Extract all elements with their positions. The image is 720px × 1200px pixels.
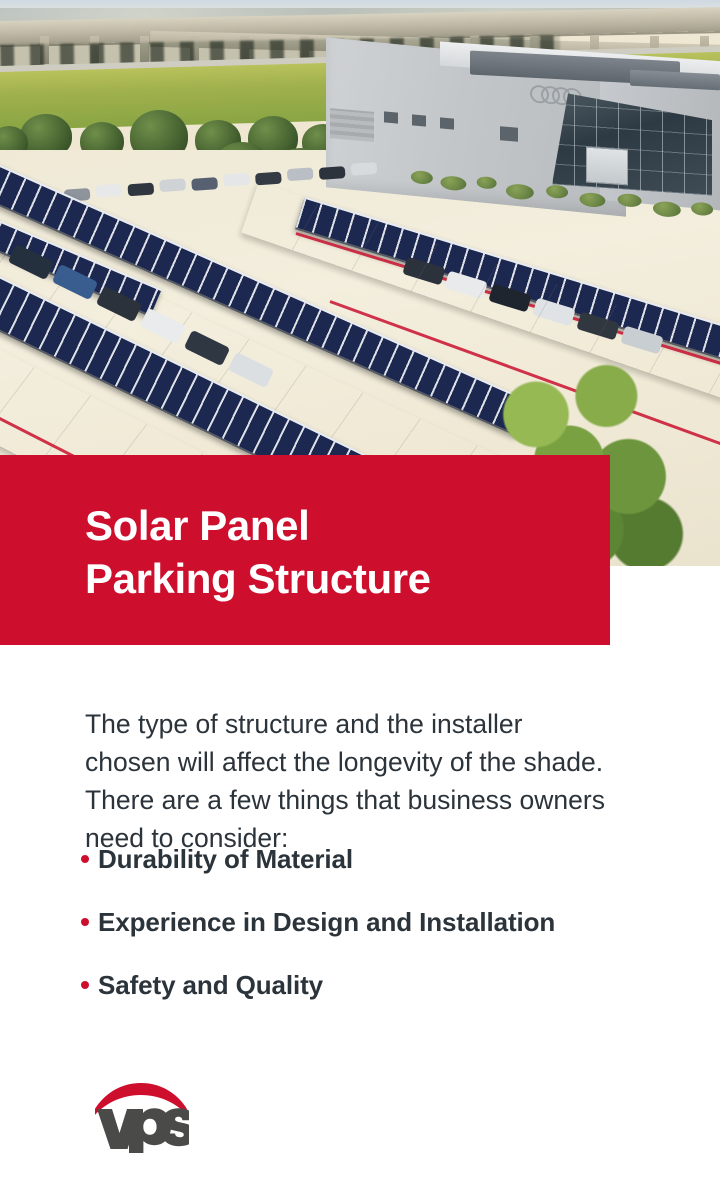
bullet-dot-icon <box>81 981 89 989</box>
list-item-label: Experience in Design and Installation <box>98 907 555 937</box>
body-paragraph: The type of structure and the installer … <box>85 705 605 857</box>
bullet-dot-icon <box>81 918 89 926</box>
logo-wordmark <box>97 1108 189 1153</box>
list-item: Safety and Quality <box>80 970 680 1000</box>
list-item-label: Durability of Material <box>98 844 353 874</box>
list-item-label: Safety and Quality <box>98 970 323 1000</box>
consideration-list: Durability of Material Experience in Des… <box>80 844 680 1033</box>
solar-panel-parking-structure-card: Solar Panel Parking Structure The type o… <box>0 0 720 1200</box>
title-banner: Solar Panel Parking Structure <box>0 455 610 645</box>
page-title: Solar Panel Parking Structure <box>85 499 431 605</box>
list-item: Experience in Design and Installation <box>80 907 680 937</box>
list-item: Durability of Material <box>80 844 680 874</box>
vps-logo-icon <box>93 1079 189 1153</box>
page-title-line-2: Parking Structure <box>85 552 431 605</box>
page-title-line-1: Solar Panel <box>85 499 431 552</box>
vps-logo <box>93 1079 189 1153</box>
bullet-dot-icon <box>81 855 89 863</box>
